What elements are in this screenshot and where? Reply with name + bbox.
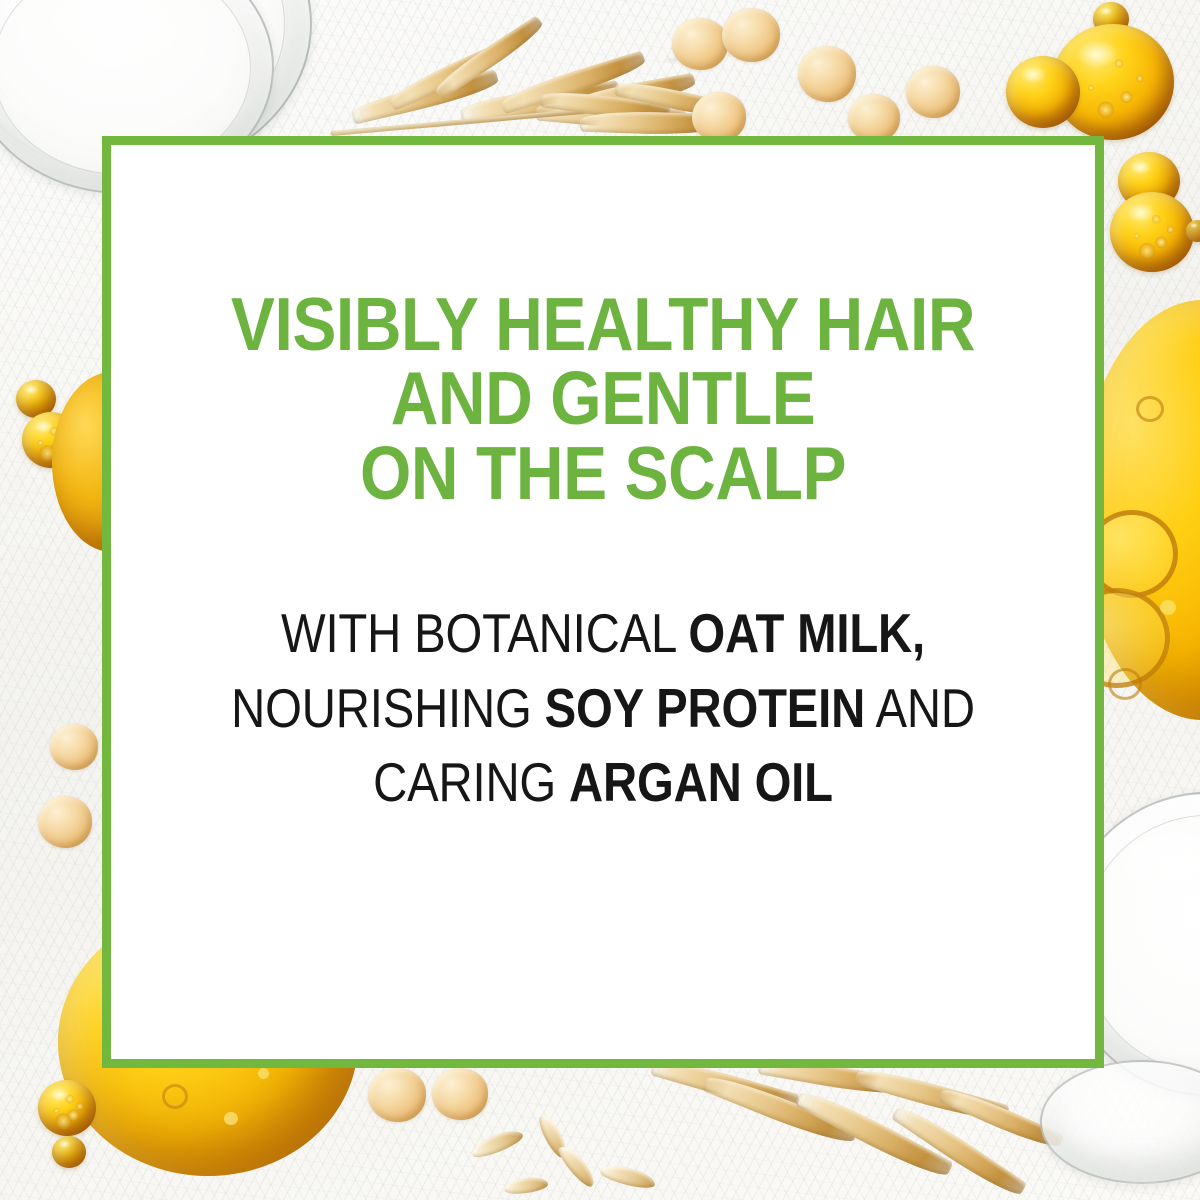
soybean	[432, 1068, 488, 1120]
oil-bubble	[258, 1068, 269, 1079]
oil-bubbles	[1052, 24, 1174, 140]
oil-bubbles	[1110, 192, 1194, 272]
oil-bubble	[1108, 668, 1142, 700]
oat-spikelet	[891, 1100, 1028, 1200]
oil-bubble	[1160, 600, 1176, 615]
soybean	[798, 46, 856, 102]
headline-line-2: AND GENTLE	[170, 361, 1036, 435]
oat-spikelet	[535, 98, 686, 134]
oat-spikelet	[539, 87, 671, 125]
oat-spikelet	[459, 80, 621, 123]
oat-kernel	[469, 1126, 525, 1162]
oil-droplet	[1093, 2, 1129, 36]
subheadline-line-2-bold: SOY PROTEIN	[545, 677, 866, 739]
soybean	[50, 724, 98, 770]
content-card: VISIBLY HEALTHY HAIR AND GENTLE ON THE S…	[102, 136, 1104, 1068]
milk-glass-bottom-right-rim	[1040, 1060, 1200, 1184]
headline-line-3: ON THE SCALP	[170, 436, 1036, 510]
oil-droplet	[38, 1080, 96, 1136]
subheadline-line-1-plain: WITH BOTANICAL	[281, 602, 688, 664]
headline: VISIBLY HEALTHY HAIR AND GENTLE ON THE S…	[170, 287, 1036, 510]
soybean	[672, 18, 728, 70]
oat-spikelet	[386, 37, 520, 111]
oil-droplet	[1052, 24, 1174, 140]
oat-stem	[330, 105, 629, 136]
headline-line-1: VISIBLY HEALTHY HAIR	[170, 287, 1036, 361]
oat-kernel	[503, 1175, 549, 1196]
subheadline-line-3: CARING ARGAN OIL	[180, 745, 1026, 820]
oat-spikelet	[565, 73, 696, 115]
oil-bubble	[1136, 396, 1164, 422]
oat-spikelet	[702, 1069, 859, 1150]
oil-droplet	[16, 380, 56, 418]
oil-droplet	[22, 412, 80, 468]
subheadline: WITH BOTANICAL OAT MILK, NOURISHING SOY …	[180, 596, 1026, 820]
soybean	[848, 94, 900, 142]
oil-droplet	[1006, 56, 1080, 128]
subheadline-line-2: NOURISHING SOY PROTEIN AND	[180, 671, 1026, 746]
oat-stalks-top	[330, 18, 690, 148]
subheadline-line-3-plain: CARING	[373, 751, 569, 813]
soybean	[38, 796, 92, 848]
glass-highlight	[1108, 824, 1200, 902]
oat-kernel	[599, 1161, 657, 1191]
subheadline-line-3-bold: ARGAN OIL	[569, 751, 833, 813]
oil-droplet	[1118, 152, 1180, 210]
oil-bubble	[224, 1112, 238, 1125]
product-benefit-banner: VISIBLY HEALTHY HAIR AND GENTLE ON THE S…	[0, 0, 1200, 1200]
oat-kernel	[535, 1112, 571, 1160]
oat-spikelet	[854, 1063, 1010, 1127]
oat-spikelet	[938, 1082, 1065, 1153]
oat-kernel	[555, 1142, 599, 1191]
subheadline-line-1-bold: OAT MILK,	[688, 602, 925, 664]
oil-bubbles	[22, 412, 80, 468]
soybean	[368, 1068, 426, 1122]
oat-spikelet	[349, 69, 500, 124]
subheadline-line-1: WITH BOTANICAL OAT MILK,	[180, 596, 1026, 671]
oil-droplet	[52, 1136, 86, 1168]
oat-stalks-top-right	[530, 40, 750, 150]
oil-bubble	[162, 1084, 188, 1109]
oat-spikelet	[794, 1084, 954, 1184]
soybean	[906, 66, 960, 118]
oat-stalks-bottom	[640, 1060, 1040, 1200]
oat-spikelet	[613, 77, 734, 123]
oat-spikelet	[431, 15, 547, 100]
oat-spikelet	[498, 51, 648, 115]
oat-spikelet	[580, 110, 721, 137]
subheadline-line-2-plain-a: NOURISHING	[231, 677, 544, 739]
oil-droplet	[1110, 192, 1194, 272]
subheadline-line-2-plain-b: AND	[865, 677, 975, 739]
oil-droplet	[1186, 220, 1200, 242]
oil-bubbles	[38, 1080, 96, 1136]
milk-surface	[0, 0, 285, 153]
soybean	[722, 8, 780, 62]
soybean	[692, 92, 746, 142]
